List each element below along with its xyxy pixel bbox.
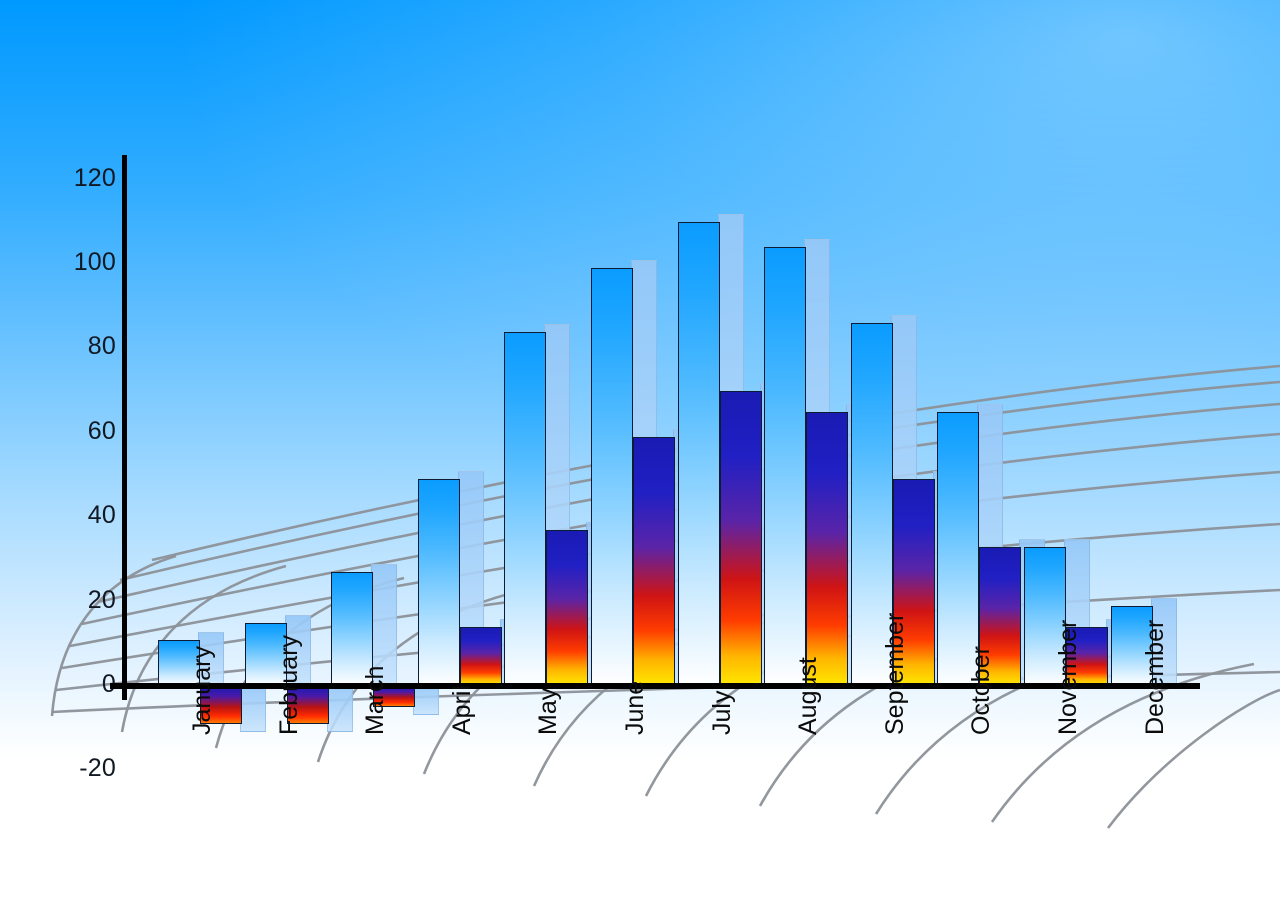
bar-face [806, 412, 848, 686]
bar-3d-side-panel [327, 686, 353, 732]
y-axis-tick-label: 80 [46, 332, 116, 361]
y-axis-line [122, 155, 127, 700]
bar-july-series2[interactable] [720, 391, 762, 686]
bar-face [678, 222, 720, 686]
x-axis-tick-label-may: May [534, 688, 563, 735]
x-axis-tick-label-december: December [1141, 620, 1170, 735]
y-axis-tick-label: 100 [46, 248, 116, 277]
bar-face [460, 627, 502, 686]
y-axis-tick-label: 60 [46, 417, 116, 446]
x-axis-tick-label-january: January [188, 646, 217, 735]
y-axis-tick-label: 40 [46, 501, 116, 530]
x-axis-tick-label-march: March [361, 666, 390, 735]
y-axis-tick-label: 20 [46, 586, 116, 615]
bar-face [720, 391, 762, 686]
bar-face [764, 247, 806, 686]
y-axis-tick-label: 0 [46, 670, 116, 699]
bar-3d-side-panel [413, 686, 439, 715]
bar-october-series1[interactable] [937, 412, 979, 686]
bar-may-series2[interactable] [546, 530, 588, 686]
bar-3d-side-panel [240, 686, 266, 732]
bar-june-series1[interactable] [591, 268, 633, 686]
x-axis-tick-label-june: June [621, 681, 650, 735]
bar-may-series1[interactable] [504, 332, 546, 686]
bar-face [633, 437, 675, 686]
bar-april-series1[interactable] [418, 479, 460, 686]
bar-face [418, 479, 460, 686]
y-axis-tick-label: -20 [46, 754, 116, 783]
x-axis-zero-line [110, 683, 1200, 689]
bar-face [937, 412, 979, 686]
bar-face [591, 268, 633, 686]
x-axis-tick-label-september: September [881, 613, 910, 735]
plot-area: -20020406080100120JanuaryFebruaryMarchAp… [0, 0, 1280, 905]
x-axis-tick-label-august: August [794, 657, 823, 735]
chart-canvas: -20020406080100120JanuaryFebruaryMarchAp… [0, 0, 1280, 905]
bar-june-series2[interactable] [633, 437, 675, 686]
bar-april-series2[interactable] [460, 627, 502, 686]
x-axis-tick-label-july: July [708, 691, 737, 735]
bar-july-series1[interactable] [678, 222, 720, 686]
x-axis-tick-label-october: October [967, 646, 996, 735]
y-axis-tick-label: 120 [46, 164, 116, 193]
x-axis-tick-label-february: February [275, 635, 304, 735]
bar-august-series1[interactable] [764, 247, 806, 686]
x-axis-tick-label-november: November [1054, 620, 1083, 735]
x-axis-tick-label-april: April [448, 685, 477, 735]
bar-august-series2[interactable] [806, 412, 848, 686]
bar-face [546, 530, 588, 686]
bar-face [504, 332, 546, 686]
